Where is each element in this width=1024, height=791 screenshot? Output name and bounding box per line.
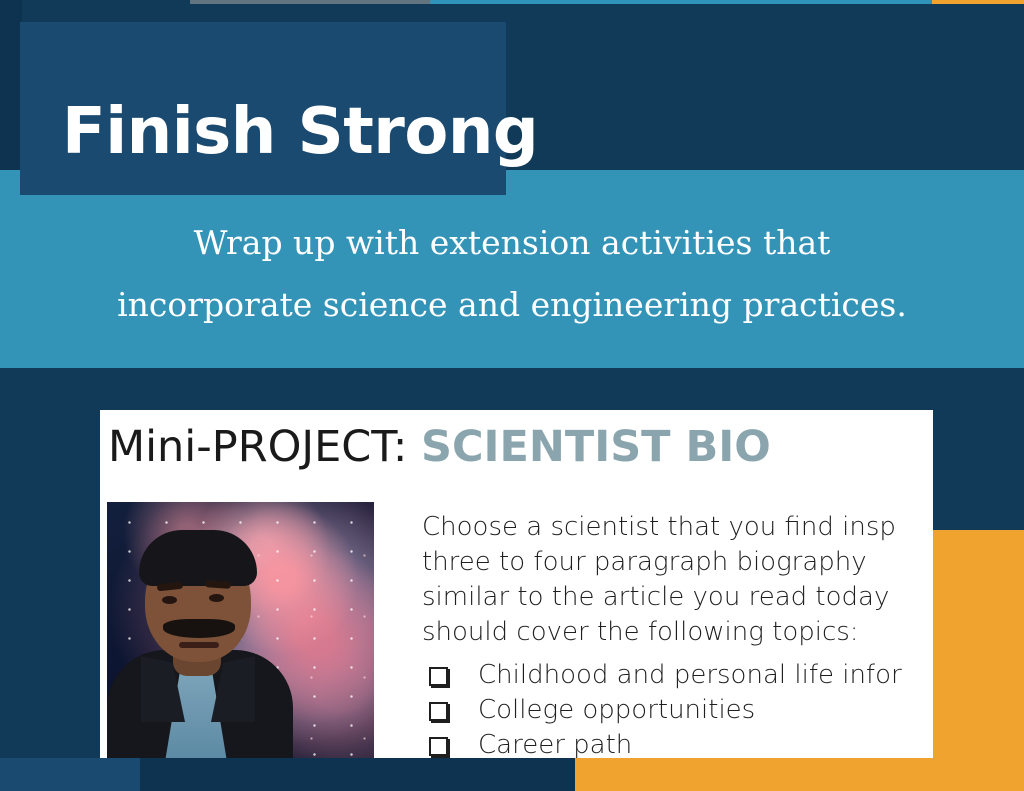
figure-eye-right [209, 594, 224, 602]
checkbox-icon [429, 702, 448, 721]
checkbox-icon [429, 667, 448, 686]
document-heading-secondary: SCIENTIST BIO [421, 422, 771, 472]
subtitle: Wrap up with extension activities that i… [0, 212, 1024, 336]
figure-eye-left [162, 596, 177, 604]
navy-accent-bottom-middle [140, 758, 575, 791]
title-plate: Finish Strong [20, 22, 506, 195]
slide-canvas: Finish Strong Wrap up with extension act… [0, 0, 1024, 791]
orange-accent-right [933, 530, 1024, 791]
top-edge-grey-tick [190, 0, 430, 4]
body-line-1: Choose a scientist that you find insp [422, 510, 933, 545]
figure-mouth [179, 642, 219, 648]
list-item-label: Career path [478, 730, 632, 758]
body-line-3: similar to the article you read today [422, 580, 933, 615]
orange-accent-bottom-right [575, 758, 1024, 791]
list-item: Childhood and personal life infor [422, 658, 933, 693]
subtitle-line-1: Wrap up with extension activities that [0, 212, 1024, 274]
checkbox-icon [429, 737, 448, 756]
subtitle-line-2: incorporate science and engineering prac… [0, 274, 1024, 336]
document-checklist: Childhood and personal life infor Colleg… [422, 658, 933, 758]
document-body-text: Choose a scientist that you find insp th… [422, 510, 933, 650]
list-item: Career path [422, 728, 933, 758]
body-line-2: three to four paragraph biography [422, 545, 933, 580]
top-edge-teal-tick [430, 0, 932, 4]
background-left-dark-strip [0, 0, 22, 170]
figure-mustache [163, 619, 235, 638]
document-heading-primary: Mini-PROJECT: [108, 422, 407, 472]
list-item: College opportunities [422, 693, 933, 728]
top-edge-orange-tick [932, 0, 1024, 4]
list-item-label: College opportunities [478, 695, 755, 725]
page-title: Finish Strong [62, 100, 532, 164]
figure-hair [139, 530, 257, 586]
blue-accent-bottom-left [0, 758, 140, 791]
body-line-4: should cover the following topics: [422, 615, 933, 650]
scientist-portrait-image [107, 502, 374, 758]
scientist-figure [107, 526, 297, 758]
document-heading: Mini-PROJECT: SCIENTIST BIO [108, 422, 771, 472]
list-item-label: Childhood and personal life infor [478, 660, 902, 690]
document-card: Mini-PROJECT: SCIENTIST BIO [100, 410, 933, 758]
